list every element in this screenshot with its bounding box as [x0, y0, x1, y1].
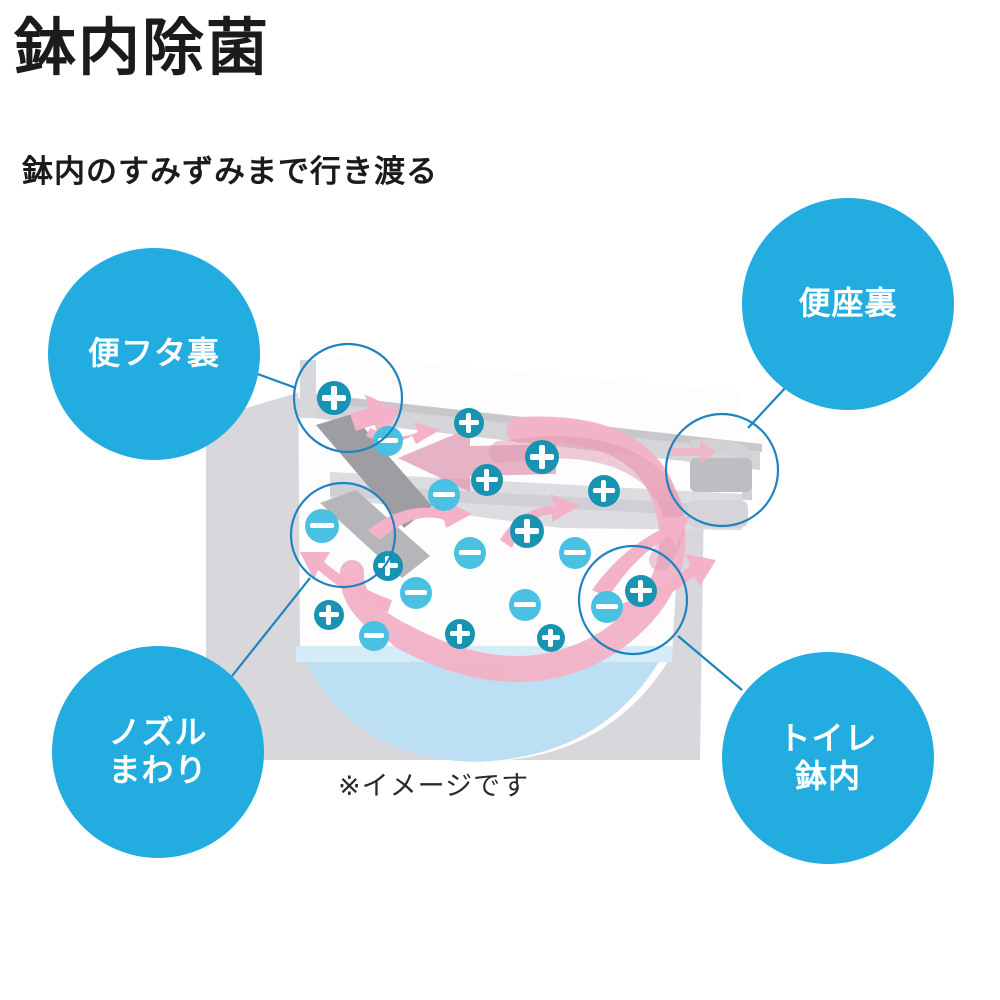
plus-ion — [588, 475, 620, 507]
minus-ion — [454, 537, 486, 569]
infographic-root: 鉢内除菌 鉢内のすみずみまで行き渡る — [0, 0, 1000, 1000]
plus-ion — [625, 575, 657, 607]
plus-ion — [445, 619, 475, 649]
minus-ion — [591, 591, 623, 623]
minus-ion — [373, 426, 403, 456]
plus-ion — [471, 464, 503, 496]
plus-ion — [537, 624, 565, 652]
minus-ion — [305, 509, 339, 543]
bubble-nozzle[interactable]: ノズル まわり — [52, 646, 264, 858]
plus-ion — [525, 440, 559, 474]
minus-ion — [359, 621, 389, 651]
plus-ion — [314, 600, 344, 630]
plus-ion — [510, 514, 544, 548]
leader-line-lid — [252, 372, 296, 388]
minus-ion — [559, 537, 591, 569]
plus-ion — [454, 408, 484, 438]
plus-ion — [373, 551, 403, 581]
bubble-lid[interactable]: 便フタ裏 — [48, 248, 260, 460]
bubble-seat[interactable]: 便座裏 — [742, 198, 954, 410]
bubble-bowl[interactable]: トイレ 鉢内 — [722, 652, 934, 864]
plus-ion — [317, 381, 351, 415]
image-caption: ※イメージです — [338, 764, 529, 803]
minus-ion — [509, 589, 541, 621]
minus-ion — [428, 479, 460, 511]
minus-ion — [400, 577, 432, 609]
